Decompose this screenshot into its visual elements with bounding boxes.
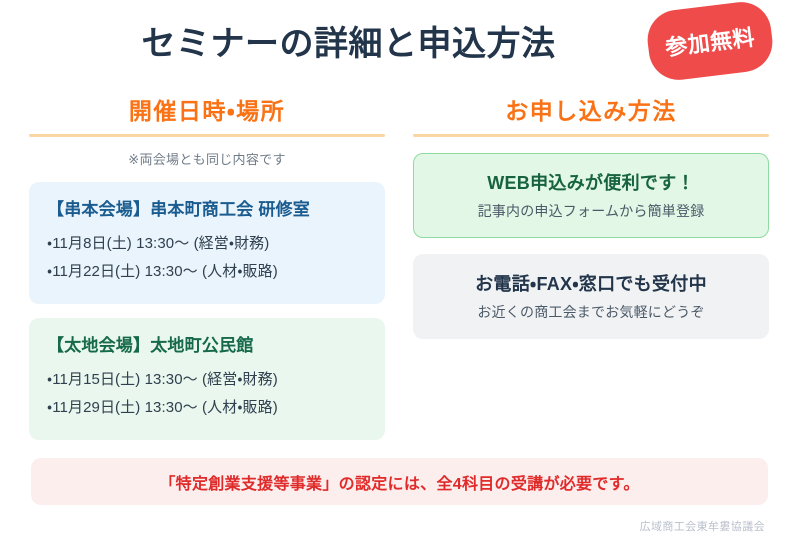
schedule-column-heading: 開催日時・場所 [29, 96, 385, 126]
venue-session: ・11月15日(土) 13:30〜 (経営・財務) [47, 366, 367, 394]
venue-session: ・11月22日(土) 13:30〜 (人材・販路) [47, 258, 367, 286]
web-application-subtitle: 記事内の申込フォームから簡単登録 [424, 201, 758, 221]
phone-application-title: お電話・FAX・窓口でも受付中 [424, 271, 758, 297]
free-participation-badge-label: 参加無料 [663, 20, 756, 63]
application-heading-rule [413, 134, 769, 137]
venue-name: 【太地会場】太地町公民館 [47, 334, 367, 358]
phone-application-box[interactable]: お電話・FAX・窓口でも受付中 お近くの商工会までお気軽にどうぞ [413, 254, 769, 339]
schedule-note: ※両会場とも同じ内容です [29, 149, 385, 168]
poster-page: セミナーの詳細と申込方法 参加無料 開催日時・場所 ※両会場とも同じ内容です 【… [0, 0, 793, 546]
web-application-box[interactable]: WEB申込みが便利です！ 記事内の申込フォームから簡単登録 [413, 153, 769, 238]
venue-name: 【串本会場】串本町商工会 研修室 [47, 198, 367, 222]
venue-card: 【太地会場】太地町公民館 ・11月15日(土) 13:30〜 (経営・財務) ・… [29, 318, 385, 440]
poster-header: セミナーの詳細と申込方法 参加無料 [0, 0, 793, 92]
web-application-title: WEB申込みが便利です！ [424, 170, 758, 196]
schedule-column: 開催日時・場所 ※両会場とも同じ内容です 【串本会場】串本町商工会 研修室 ・1… [29, 96, 385, 440]
application-column-heading: お申し込み方法 [413, 96, 769, 126]
certification-notice-banner: 「特定創業支援等事業」の認定には、全4科目の受講が必要です。 [31, 458, 768, 505]
application-column: お申し込み方法 WEB申込みが便利です！ 記事内の申込フォームから簡単登録 お電… [413, 96, 769, 339]
organization-credit: 広域商工会東牟婁協議会 [640, 518, 765, 534]
free-participation-badge: 参加無料 [644, 0, 776, 83]
schedule-heading-rule [29, 134, 385, 137]
certification-notice-text: 「特定創業支援等事業」の認定には、全4科目の受講が必要です。 [159, 470, 639, 494]
venue-session: ・11月8日(土) 13:30〜 (経営・財務) [47, 230, 367, 258]
venue-card: 【串本会場】串本町商工会 研修室 ・11月8日(土) 13:30〜 (経営・財務… [29, 182, 385, 304]
venue-session: ・11月29日(土) 13:30〜 (人材・販路) [47, 394, 367, 422]
phone-application-subtitle: お近くの商工会までお気軽にどうぞ [424, 302, 758, 322]
